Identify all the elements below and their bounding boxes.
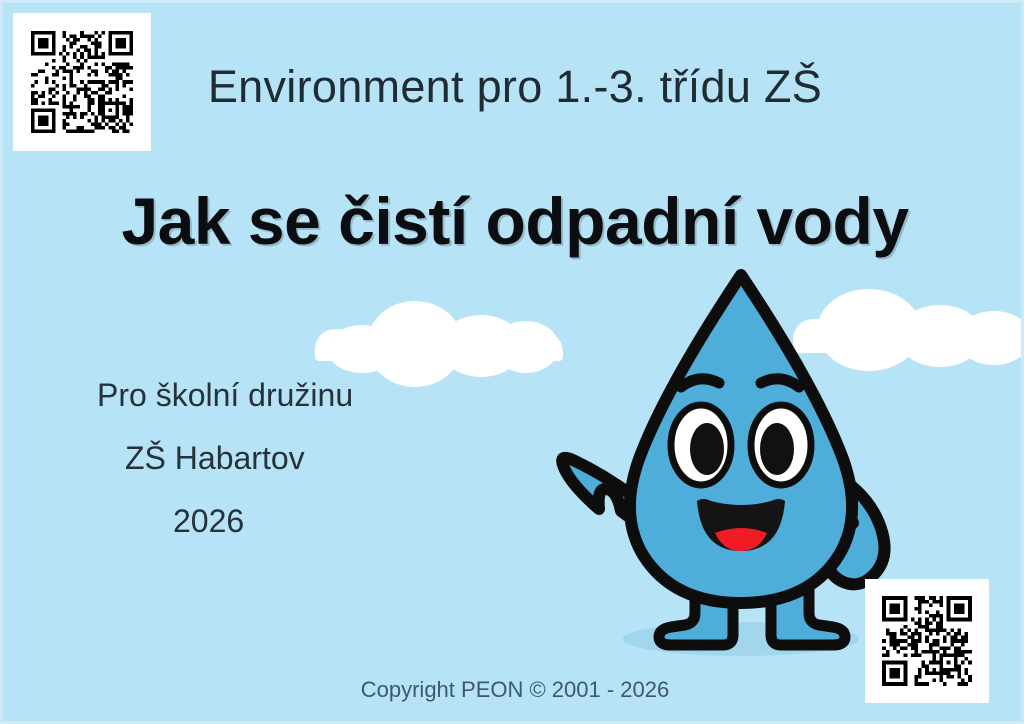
qr-code-canvas	[24, 24, 140, 140]
audience-line: 2026	[173, 505, 481, 537]
mascot-pupil-left	[690, 423, 724, 475]
slide-title: Jak se čistí odpadní vody	[3, 183, 1024, 259]
qr-code-top-left[interactable]	[13, 13, 151, 151]
mascot-body	[630, 275, 852, 603]
audience-block: Pro školní družinu ZŠ Habartov 2026	[81, 379, 481, 537]
slide-subtitle: Environment pro 1.-3. třídu ZŠ	[3, 61, 1024, 113]
presentation-slide: Environment pro 1.-3. třídu ZŠ Jak se či…	[0, 0, 1024, 724]
audience-line: ZŠ Habartov	[125, 442, 481, 474]
mascot-pupil-right	[760, 423, 794, 475]
water-droplet-mascot	[545, 261, 905, 661]
cloud-puff	[957, 311, 1021, 365]
audience-line: Pro školní družinu	[97, 379, 481, 411]
qr-code-canvas	[875, 589, 979, 693]
qr-code-bottom-right[interactable]	[865, 579, 989, 703]
cloud-left	[315, 289, 563, 361]
cloud-puff	[327, 325, 397, 373]
